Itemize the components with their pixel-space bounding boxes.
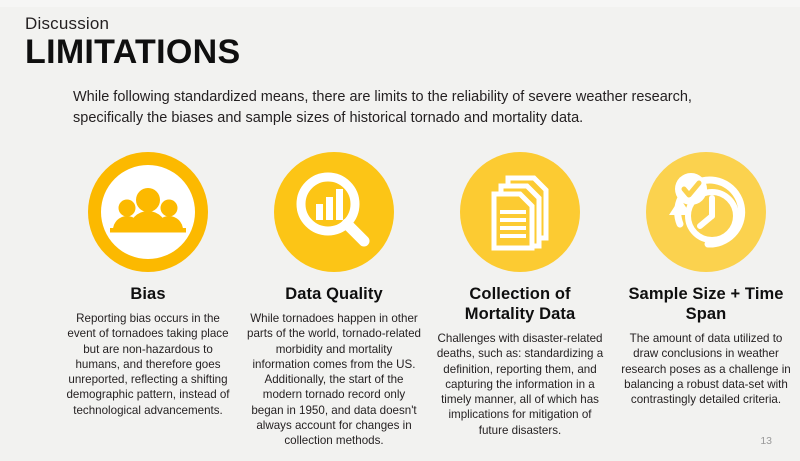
clock-refresh-check-icon [646, 152, 766, 272]
column-body: The amount of data utilized to draw conc… [619, 331, 793, 407]
icon-circle-sample-size [646, 152, 766, 272]
column-body: Challenges with disaster-related deaths,… [433, 331, 607, 438]
intro-paragraph: While following standardized means, ther… [73, 87, 733, 129]
magnifier-bar-chart-icon [274, 152, 394, 272]
page-number: 13 [760, 435, 772, 447]
people-group-icon [88, 152, 208, 272]
column-heading: Collection of Mortality Data [433, 284, 607, 324]
column-heading: Data Quality [285, 284, 382, 304]
limitations-columns: Bias Reporting bias occurs in the event … [55, 152, 800, 449]
column-heading: Sample Size + Time Span [619, 284, 793, 324]
icon-circle-data-quality [274, 152, 394, 272]
icon-circle-collection [460, 152, 580, 272]
column-body: While tornadoes happen in other parts of… [247, 311, 421, 449]
column-bias: Bias Reporting bias occurs in the event … [55, 152, 241, 418]
section-eyebrow: Discussion [25, 14, 240, 34]
column-data-quality: Data Quality While tornadoes happen in o… [241, 152, 427, 449]
page-title: LIMITATIONS [25, 33, 240, 71]
column-sample-size-time-span: Sample Size + Time Span The amount of da… [613, 152, 799, 407]
stacked-documents-icon [460, 152, 580, 272]
column-heading: Bias [130, 284, 165, 304]
column-body: Reporting bias occurs in the event of to… [61, 311, 235, 418]
column-collection-mortality-data: Collection of Mortality Data Challenges … [427, 152, 613, 438]
slide-header: Discussion LIMITATIONS [25, 14, 240, 71]
slide: Discussion LIMITATIONS While following s… [0, 0, 800, 461]
icon-circle-bias [88, 152, 208, 272]
slide-top-strip [0, 0, 800, 7]
